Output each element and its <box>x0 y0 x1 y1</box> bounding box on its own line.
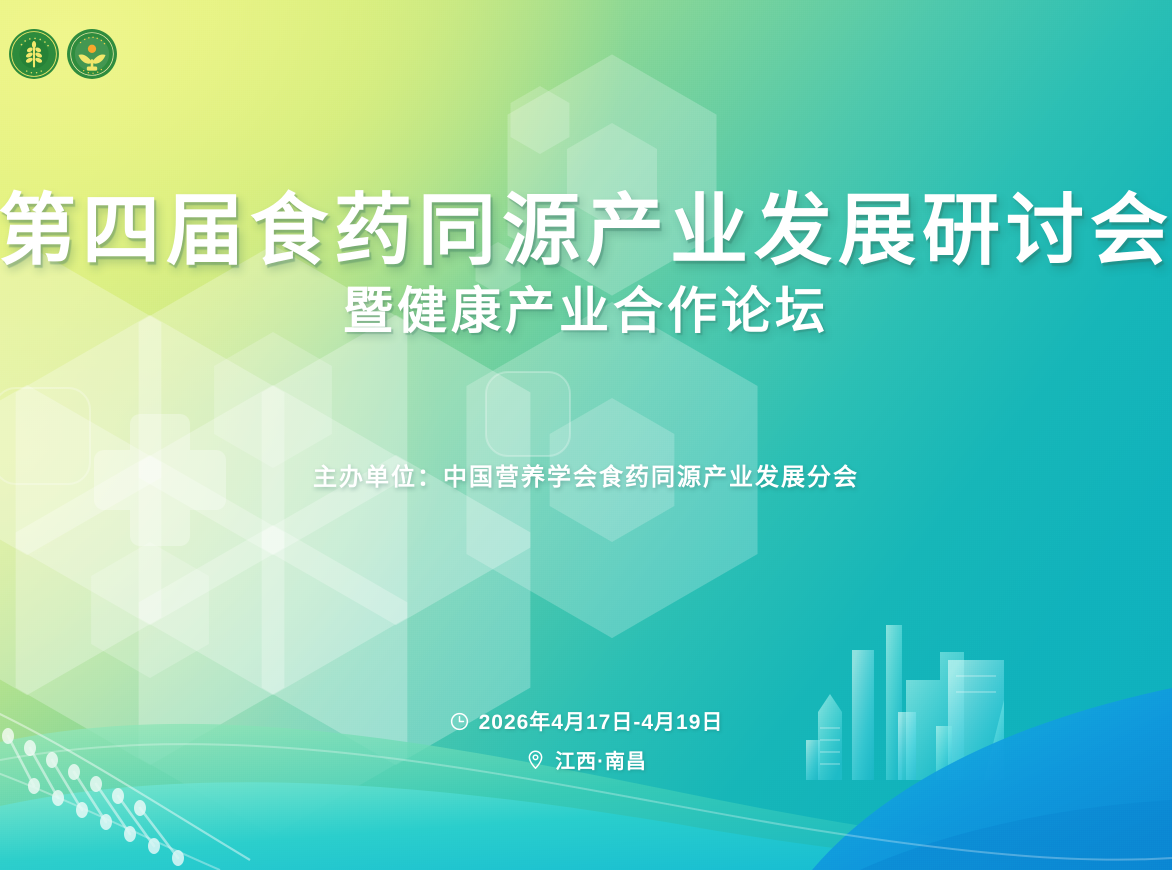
event-location-row: 江西·南昌 <box>525 745 647 774</box>
wave-blue-2 <box>860 800 1172 870</box>
clock-icon <box>449 711 470 732</box>
rounded-square-watermarks <box>0 372 570 484</box>
logo-group <box>8 28 118 80</box>
food-medicine-homology-branch-logo <box>66 28 118 80</box>
hexagon-fill-group <box>91 86 674 678</box>
hexagon-watermark-group <box>0 328 458 752</box>
conference-poster: 第四届食药同源产业发展研讨会 暨健康产业合作论坛 主办单位：中国营养学会食药同源… <box>0 0 1172 870</box>
rounded-square-fill <box>486 372 570 456</box>
medical-cross-watermark <box>94 414 226 546</box>
main-title: 第四届食药同源产业发展研讨会 <box>0 188 1172 272</box>
organizer-line: 主办单位：中国营养学会食药同源产业发展分会 <box>313 457 859 492</box>
wave-cyan <box>0 782 1172 870</box>
event-date-row: 2026年4月17日-4月19日 <box>449 706 724 736</box>
event-date-text: 2026年4月17日-4月19日 <box>479 706 724 736</box>
hexagon-outline-group-right <box>544 119 679 548</box>
event-location-text: 江西·南昌 <box>555 745 647 774</box>
event-meta: 2026年4月17日-4月19日 江西·南昌 <box>0 706 1172 774</box>
chinese-nutrition-society-logo <box>8 28 60 80</box>
map-pin-icon <box>525 749 546 770</box>
sub-title: 暨健康产业合作论坛 <box>343 284 829 339</box>
